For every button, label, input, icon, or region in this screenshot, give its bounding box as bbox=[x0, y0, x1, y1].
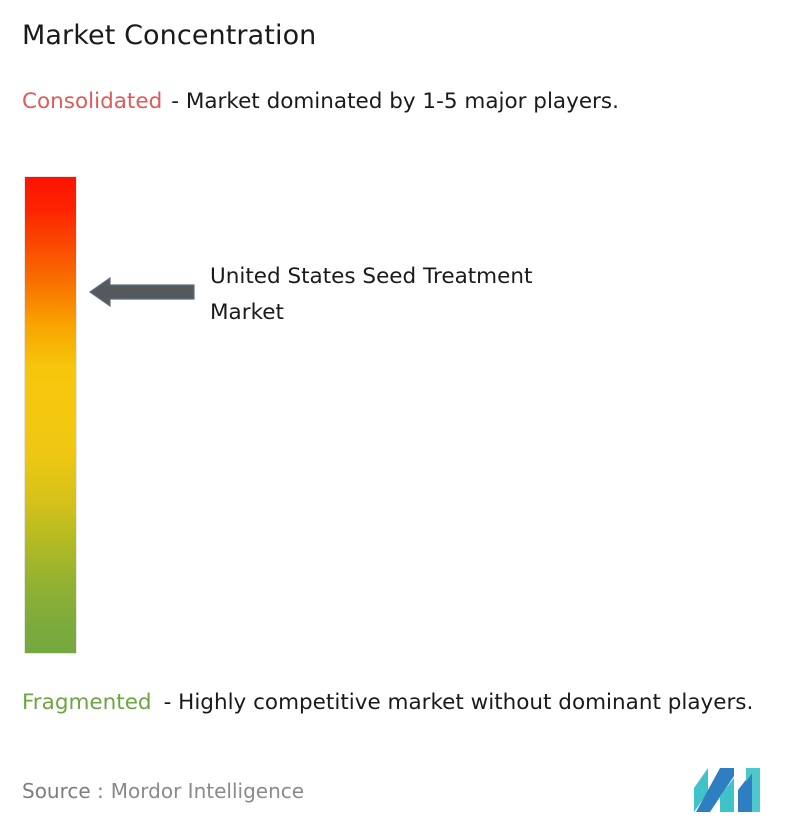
source-label: Source : bbox=[22, 779, 104, 803]
callout-arrow bbox=[88, 272, 196, 312]
market-concentration-chart: Market Concentration Consolidated- Marke… bbox=[0, 0, 796, 834]
concentration-gradient-bar bbox=[25, 177, 76, 653]
legend-fragmented-term: Fragmented bbox=[22, 690, 152, 715]
legend-consolidated-description: - Market dominated by 1-5 major players. bbox=[171, 89, 619, 114]
callout-label: United States Seed Treatment Market bbox=[210, 259, 540, 331]
arrow-left-icon bbox=[88, 272, 196, 312]
mordor-intelligence-logo bbox=[694, 768, 760, 812]
legend-consolidated-term: Consolidated bbox=[22, 89, 162, 114]
source-value: Mordor Intelligence bbox=[111, 779, 304, 803]
source-attribution: Source :Mordor Intelligence bbox=[22, 778, 304, 804]
legend-consolidated: Consolidated- Market dominated by 1-5 ma… bbox=[22, 86, 774, 117]
legend-fragmented: Fragmented- Highly competitive market wi… bbox=[22, 687, 782, 718]
legend-fragmented-description: - Highly competitive market without domi… bbox=[164, 690, 754, 715]
page-title: Market Concentration bbox=[22, 20, 316, 52]
brand-monogram-icon bbox=[694, 768, 760, 812]
